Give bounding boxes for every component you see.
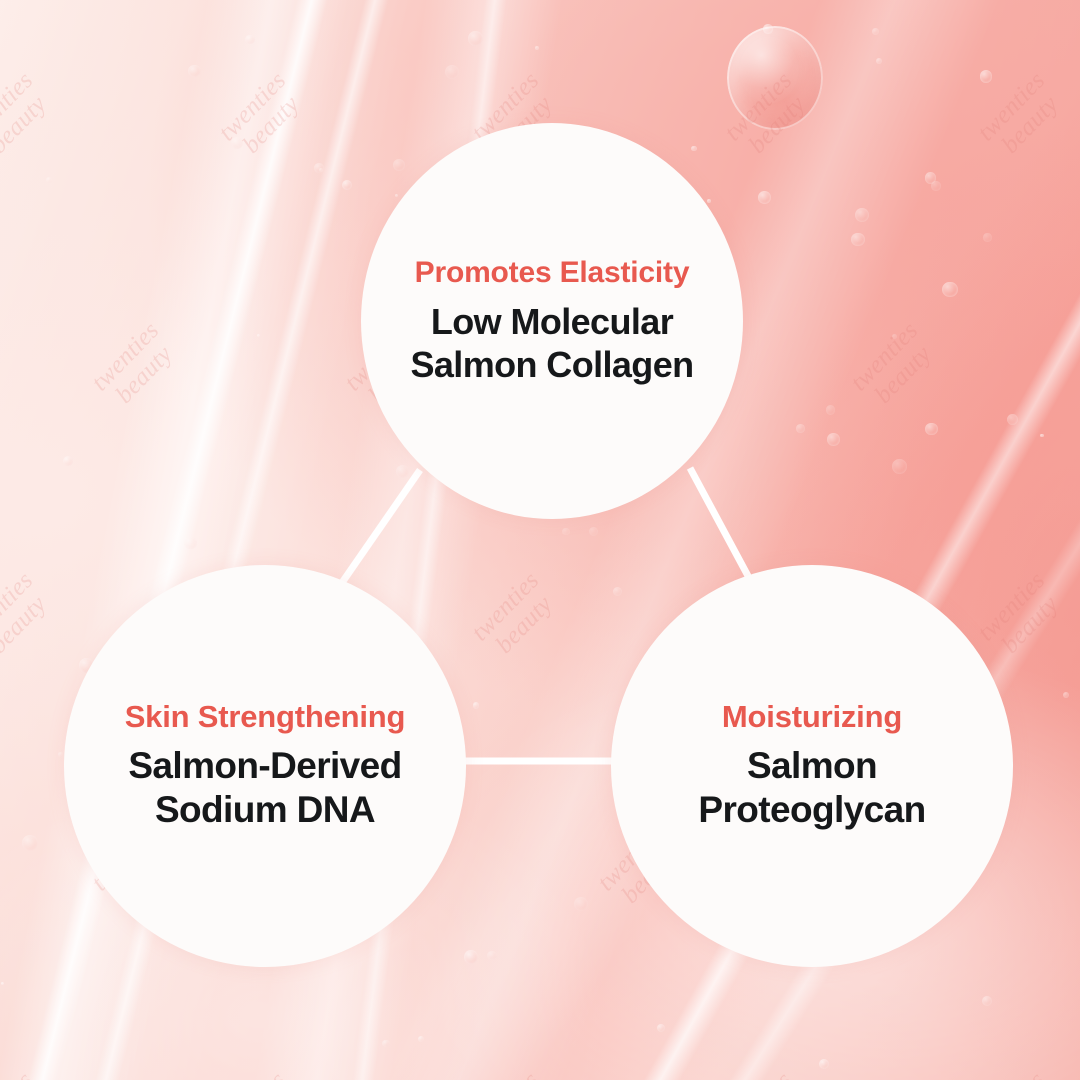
node-title-line2: Salmon Collagen bbox=[410, 344, 693, 385]
node-title: Salmon-Derived Sodium DNA bbox=[102, 744, 427, 833]
node-title-line1: Salmon-Derived bbox=[128, 745, 401, 786]
node-title-line1: Salmon bbox=[747, 745, 877, 786]
node-skin-strengthening[interactable]: Skin Strengthening Salmon-Derived Sodium… bbox=[64, 565, 466, 967]
node-eyebrow: Skin Strengthening bbox=[125, 699, 406, 735]
node-title-line2: Proteoglycan bbox=[698, 789, 925, 830]
node-moisturizing[interactable]: Moisturizing Salmon Proteoglycan bbox=[611, 565, 1013, 967]
node-title-line1: Low Molecular bbox=[431, 301, 673, 342]
node-eyebrow: Promotes Elasticity bbox=[415, 256, 690, 291]
node-title-line2: Sodium DNA bbox=[155, 789, 375, 830]
node-title: Low Molecular Salmon Collagen bbox=[384, 300, 719, 386]
node-title: Salmon Proteoglycan bbox=[672, 744, 951, 833]
node-eyebrow: Moisturizing bbox=[722, 699, 902, 735]
node-promotes-elasticity[interactable]: Promotes Elasticity Low Molecular Salmon… bbox=[361, 123, 743, 519]
infographic-canvas: twentiesbeautytwentiesbeautytwentiesbeau… bbox=[0, 0, 1080, 1080]
